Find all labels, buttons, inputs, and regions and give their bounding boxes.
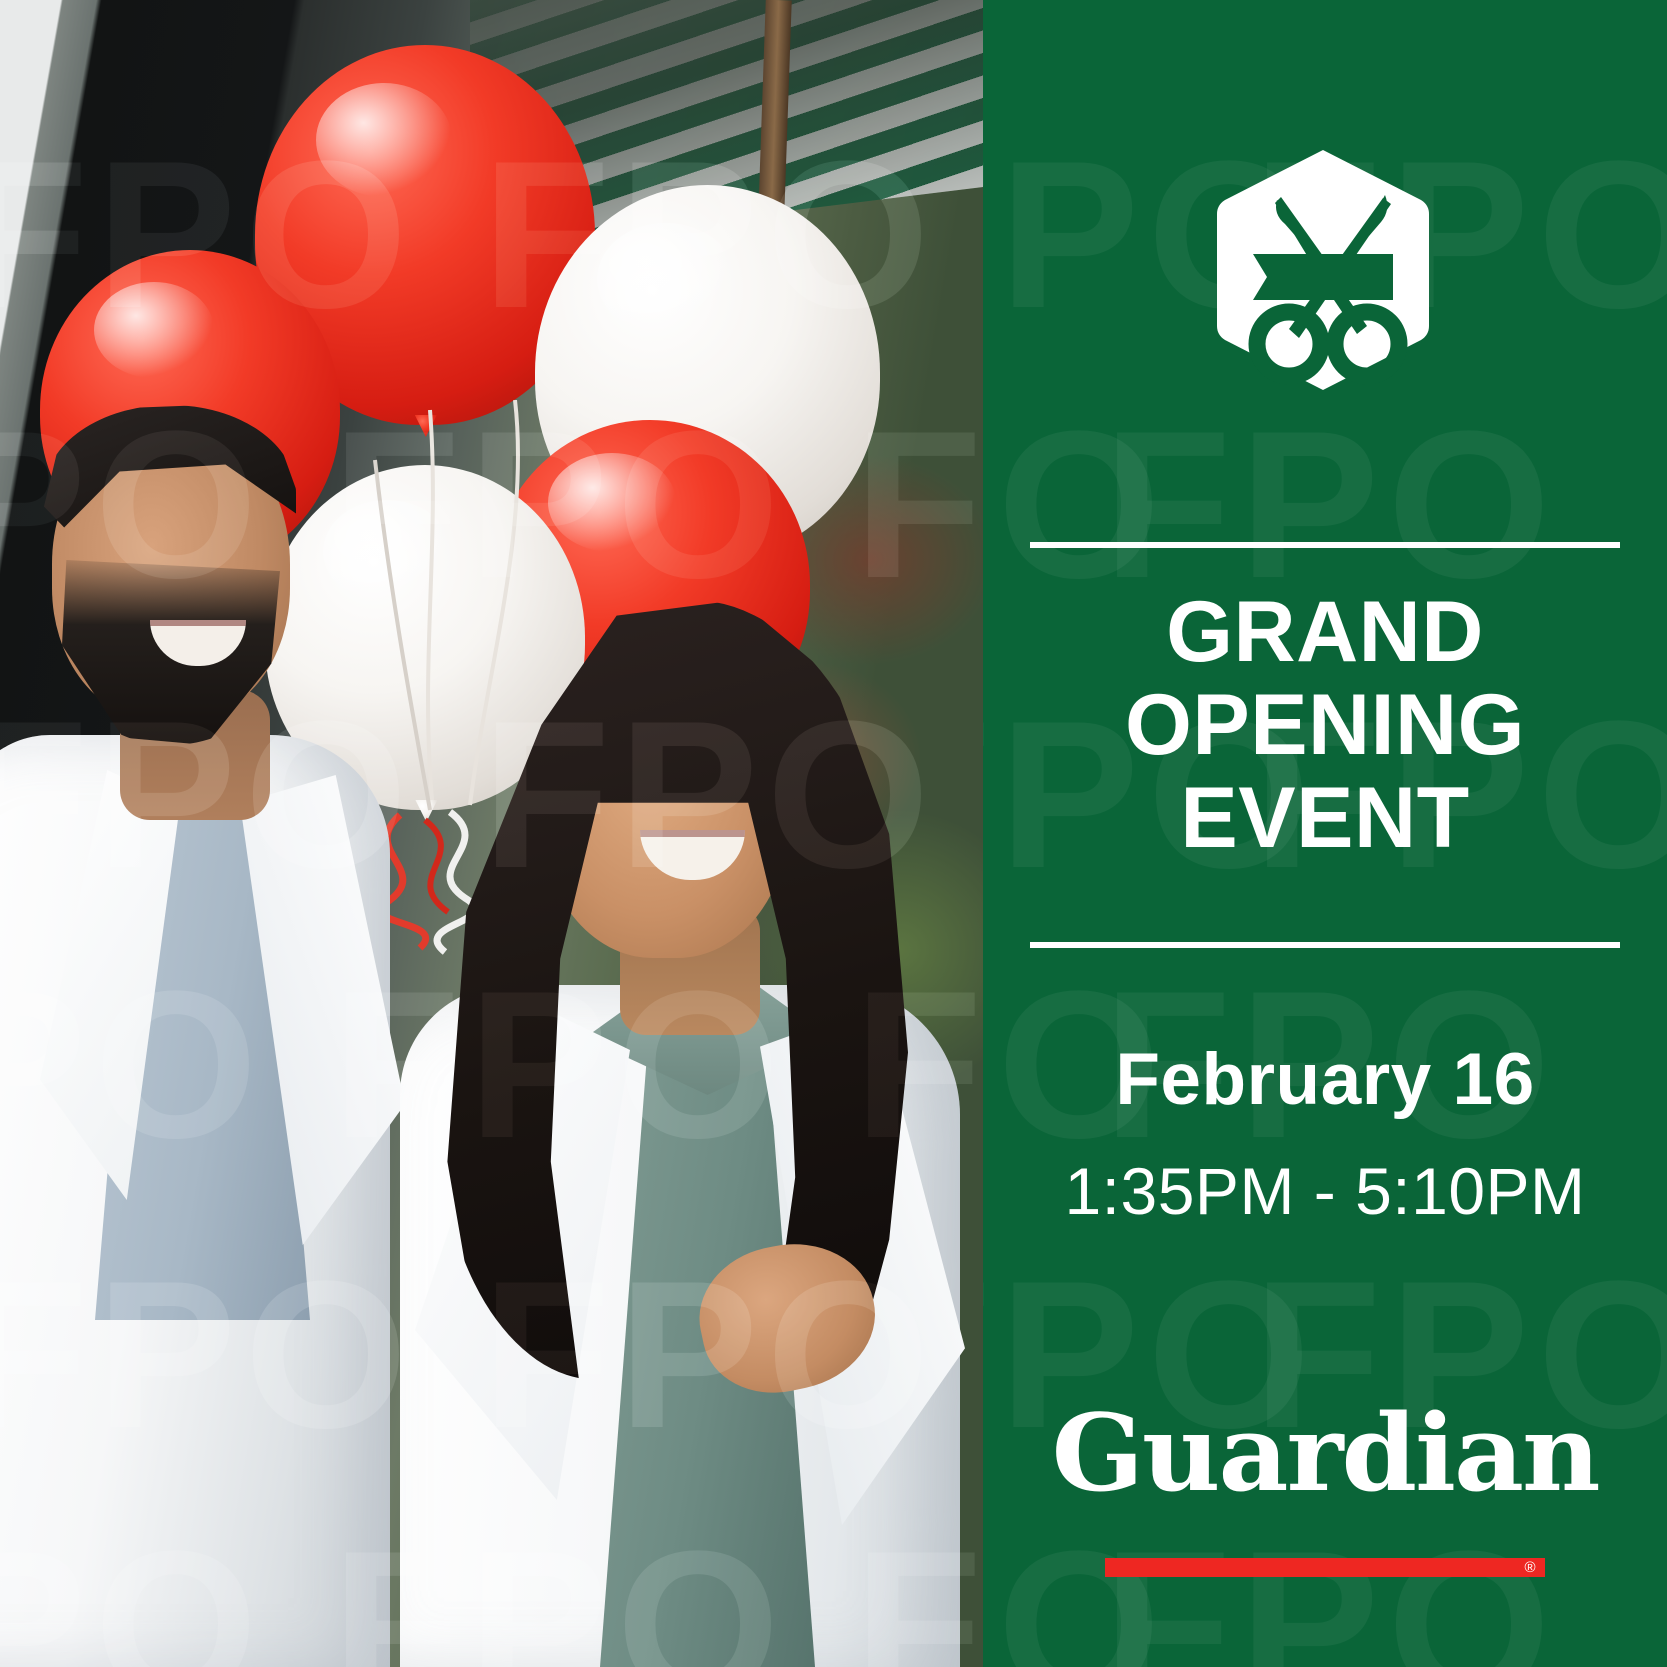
event-time: 1:35PM - 5:10PM [983,1155,1667,1228]
page-title: GRANDOPENINGEVENT [983,586,1667,865]
headline-line-2: OPENING [1125,677,1525,773]
scissors-ribbon-cutting-hexagon-icon [1215,148,1431,392]
event-date: February 16 [983,1040,1667,1120]
brand-underline-bar [1105,1558,1545,1577]
headline-line-3: EVENT [1180,770,1469,866]
headline-line-1: GRAND [1166,584,1484,680]
grand-opening-poster: FPO FPO FPO FPO FPO FPO FPO FPO FPO FPO … [0,0,1667,1667]
hero-photo: FPO FPO FPO FPO FPO FPO FPO FPO FPO FPO … [0,0,983,1667]
info-panel: FPO FPO FPO FPO FPO FPO FPO FPO FPO FPO … [983,0,1667,1667]
divider-top [1030,542,1620,548]
brand-logo: Guardian [983,1400,1667,1506]
registered-trademark-icon: ® [1519,1558,1541,1577]
brand-wordmark: Guardian [1051,1400,1598,1506]
divider-bottom [1030,942,1620,948]
